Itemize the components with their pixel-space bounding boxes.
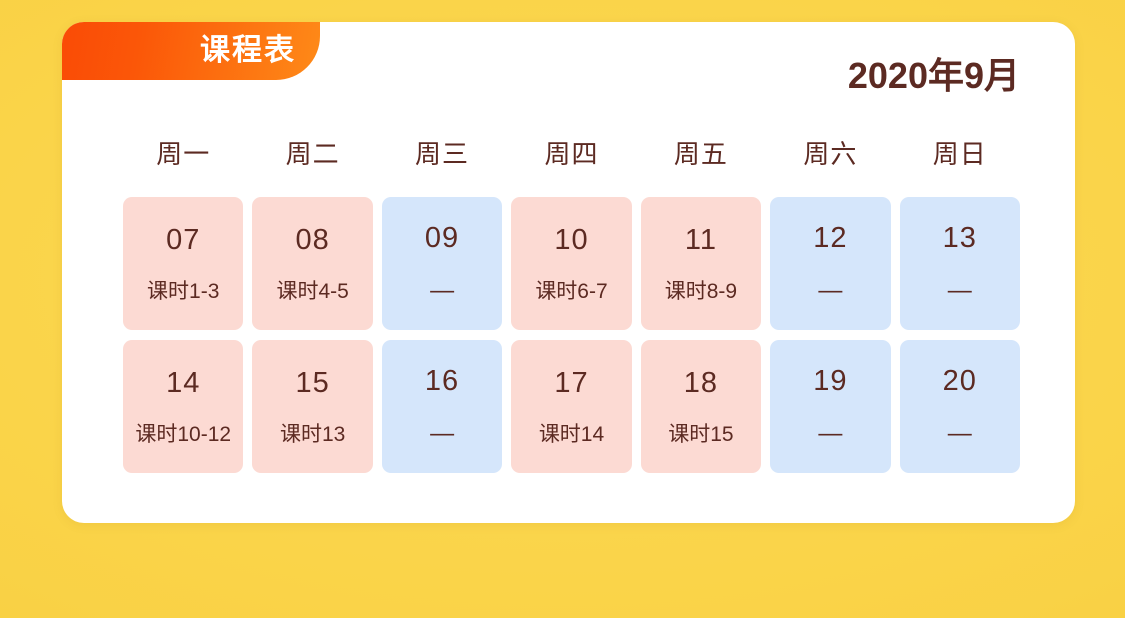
day-cell-15[interactable]: 15课时13 xyxy=(252,340,372,473)
day-note: 课时8-9 xyxy=(665,281,737,302)
day-cell-10[interactable]: 10课时6-7 xyxy=(511,197,631,330)
weekday-header-row: 周一周二周三周四周五周六周日 xyxy=(123,130,1020,178)
weekday-header-2: 周二 xyxy=(252,130,372,178)
day-cell-13[interactable]: 13— xyxy=(900,197,1020,330)
day-note: 课时14 xyxy=(539,424,604,445)
day-cell-17[interactable]: 17课时14 xyxy=(511,340,631,473)
day-cell-09[interactable]: 09— xyxy=(382,197,502,330)
weekday-header-6: 周六 xyxy=(770,130,890,178)
day-cell-18[interactable]: 18课时15 xyxy=(641,340,761,473)
weekday-header-1: 周一 xyxy=(123,130,243,178)
day-note: 课时4-5 xyxy=(276,281,348,302)
day-cell-08[interactable]: 08课时4-5 xyxy=(252,197,372,330)
month-label: 2020年9月 xyxy=(848,54,1020,97)
day-note: 课时6-7 xyxy=(535,281,607,302)
day-number: 07 xyxy=(166,226,200,255)
day-note: 课时10-12 xyxy=(135,424,231,445)
weekday-header-4: 周四 xyxy=(511,130,631,178)
day-note-empty: — xyxy=(430,422,454,446)
day-note-empty: — xyxy=(948,422,972,446)
day-note-empty: — xyxy=(818,279,842,303)
day-number: 10 xyxy=(554,226,588,255)
day-number: 14 xyxy=(166,369,200,398)
day-cell-12[interactable]: 12— xyxy=(770,197,890,330)
day-number: 19 xyxy=(813,367,847,396)
day-number: 20 xyxy=(943,367,977,396)
day-number: 12 xyxy=(813,224,847,253)
day-cell-14[interactable]: 14课时10-12 xyxy=(123,340,243,473)
schedule-title-tab: 课程表 xyxy=(62,22,320,80)
weekday-header-5: 周五 xyxy=(641,130,761,178)
day-number: 17 xyxy=(554,369,588,398)
day-cell-16[interactable]: 16— xyxy=(382,340,502,473)
day-number: 08 xyxy=(296,226,330,255)
day-cell-07[interactable]: 07课时1-3 xyxy=(123,197,243,330)
day-note-empty: — xyxy=(430,279,454,303)
weekday-header-7: 周日 xyxy=(900,130,1020,178)
day-number: 11 xyxy=(685,226,717,255)
day-cell-11[interactable]: 11课时8-9 xyxy=(641,197,761,330)
day-note: 课时13 xyxy=(280,424,345,445)
schedule-card: 课程表 2020年9月 周一周二周三周四周五周六周日 07课时1-308课时4-… xyxy=(62,22,1075,523)
day-note-empty: — xyxy=(818,422,842,446)
day-number: 13 xyxy=(943,224,977,253)
schedule-title-label: 课程表 xyxy=(200,36,296,66)
date-grid: 07课时1-308课时4-509—10课时6-711课时8-912—13—14课… xyxy=(123,197,1020,473)
day-number: 15 xyxy=(296,369,330,398)
day-number: 18 xyxy=(684,369,718,398)
weekday-header-3: 周三 xyxy=(382,130,502,178)
day-cell-20[interactable]: 20— xyxy=(900,340,1020,473)
day-note: 课时15 xyxy=(668,424,733,445)
day-cell-19[interactable]: 19— xyxy=(770,340,890,473)
day-note-empty: — xyxy=(948,279,972,303)
day-note: 课时1-3 xyxy=(147,281,219,302)
day-number: 16 xyxy=(425,367,459,396)
day-number: 09 xyxy=(425,224,459,253)
